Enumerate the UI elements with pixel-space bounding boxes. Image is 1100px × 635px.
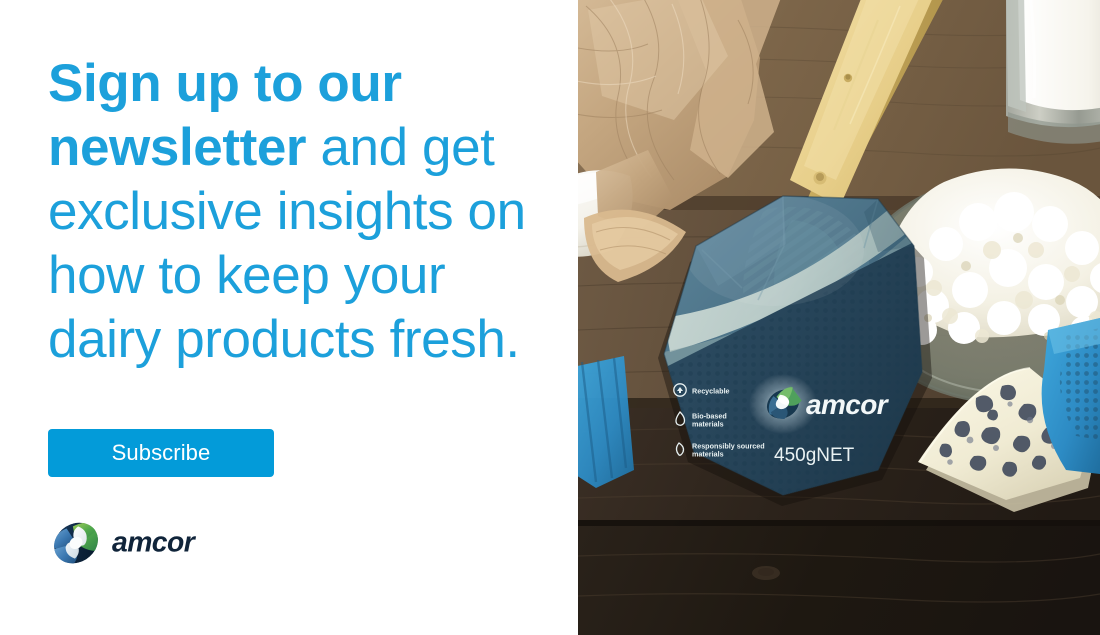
eco-claim-1-label: Recyclable	[692, 386, 730, 395]
package-weight-label: 450gNET	[774, 445, 855, 466]
newsletter-banner: Sign up to our newsletter and get exclus…	[0, 0, 1100, 635]
subscribe-button[interactable]: Subscribe	[48, 429, 274, 477]
svg-text:materials: materials	[692, 419, 724, 428]
svg-text:materials: materials	[692, 449, 724, 458]
page-title: Sign up to our newsletter and get exclus…	[48, 52, 548, 372]
amcor-swirl-logo-icon	[50, 517, 102, 569]
subscribe-button-label: Subscribe	[112, 442, 211, 464]
photo-illustration: Recyclable Bio-based materials Responsib…	[578, 0, 1100, 635]
package-brand-label: amcor	[806, 389, 890, 420]
left-content-panel: Sign up to our newsletter and get exclus…	[0, 0, 578, 635]
svg-text:amcor: amcor	[112, 526, 197, 558]
amcor-wordmark: amcor	[112, 526, 242, 560]
dairy-products-photo: Recyclable Bio-based materials Responsib…	[578, 0, 1100, 635]
brand-logo-lockup: amcor	[50, 517, 242, 569]
